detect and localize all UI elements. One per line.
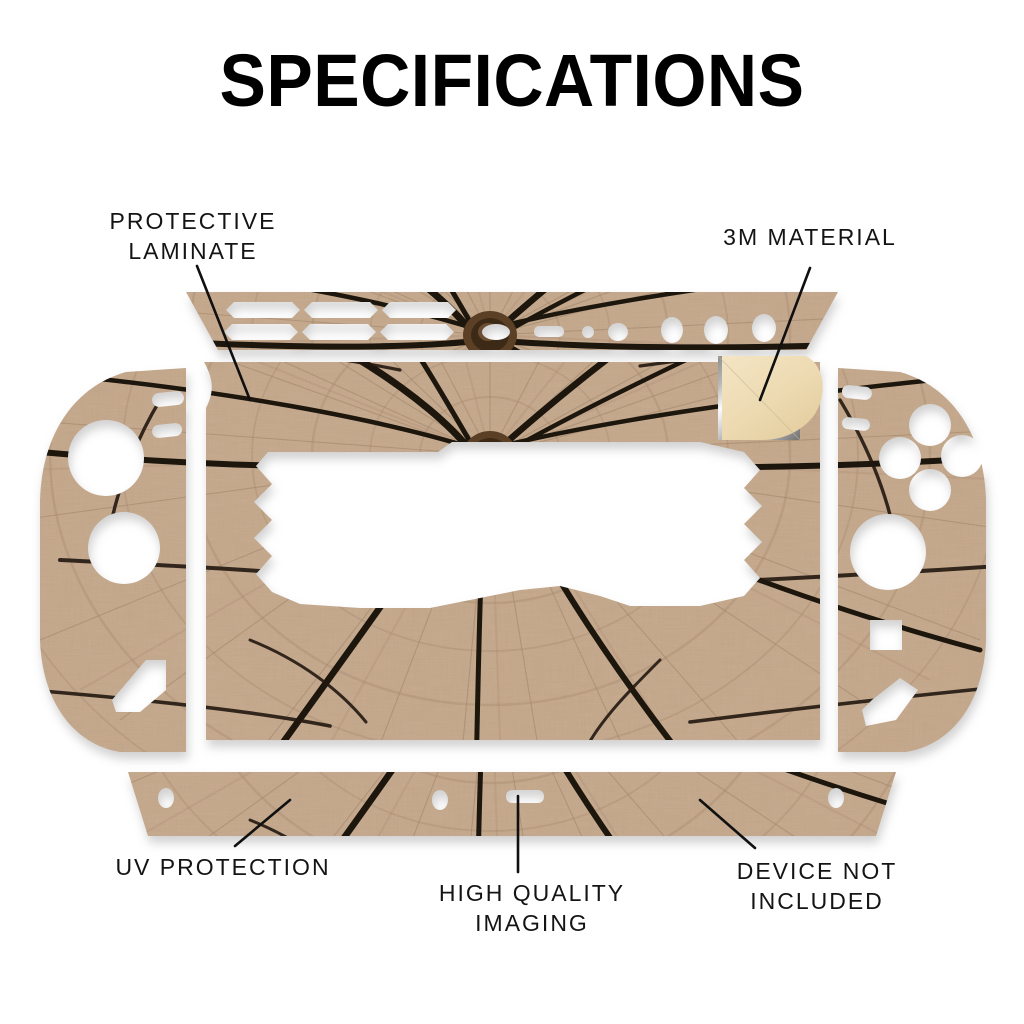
callout-3m-material: 3M MATERIAL xyxy=(660,222,960,252)
callout-device-not-included: DEVICE NOT INCLUDED xyxy=(672,856,962,917)
callout-high-quality-imaging: HIGH QUALITY IMAGING xyxy=(392,878,672,939)
callout-uv-protection: UV PROTECTION xyxy=(38,852,408,882)
specifications-page: SPECIFICATIONS xyxy=(0,0,1024,1024)
callout-protective-laminate: PROTECTIVE LAMINATE xyxy=(48,206,338,267)
